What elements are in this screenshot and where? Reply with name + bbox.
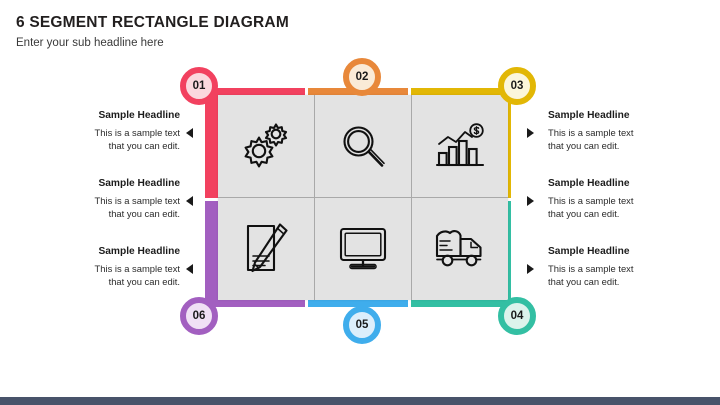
segment-number-04-label: 04 (511, 310, 524, 322)
grid-cell-06[interactable] (218, 198, 314, 300)
text-block-left-2: Sample Headline This is a sample text th… (48, 178, 180, 221)
triangle-marker-left-3 (186, 264, 193, 274)
grid-cell-01[interactable] (218, 95, 314, 197)
headline-right-2: Sample Headline (548, 178, 680, 191)
text-block-right-2: Sample Headline This is a sample text th… (548, 178, 680, 221)
headline-left-2: Sample Headline (48, 178, 180, 191)
monitor-icon (337, 226, 389, 272)
text-block-left-3: Sample Headline This is a sample text th… (48, 246, 180, 289)
triangle-marker-right-1 (527, 128, 534, 138)
body-left-2-line1: This is a sample text (48, 194, 180, 208)
border-segment-01-left (205, 88, 219, 198)
segment-number-02-label: 02 (356, 71, 369, 83)
footer-bar (0, 397, 720, 405)
headline-right-1: Sample Headline (548, 110, 680, 123)
body-right-3: This is a sample text that you can edit. (548, 262, 680, 289)
text-block-left-1: Sample Headline This is a sample text th… (48, 110, 180, 153)
segment-number-03-label: 03 (511, 80, 524, 92)
slide-canvas: 6 SEGMENT RECTANGLE DIAGRAM Enter your s… (0, 0, 720, 405)
body-left-3-line1: This is a sample text (48, 262, 180, 276)
triangle-marker-left-1 (186, 128, 193, 138)
text-block-right-3: Sample Headline This is a sample text th… (548, 246, 680, 289)
body-left-3-line2: that you can edit. (48, 275, 180, 289)
segment-number-05-label: 05 (356, 319, 369, 331)
page-title: 6 SEGMENT RECTANGLE DIAGRAM (16, 14, 289, 32)
segment-grid (218, 95, 508, 300)
segment-number-03[interactable]: 03 (498, 67, 536, 105)
segment-number-04[interactable]: 04 (498, 297, 536, 335)
magnifier-icon (339, 122, 387, 170)
grid-cell-05[interactable] (315, 198, 411, 300)
page-subtitle: Enter your sub headline here (16, 37, 164, 49)
body-right-1-line2: that you can edit. (548, 139, 680, 153)
body-right-1-line1: This is a sample text (548, 126, 680, 140)
triangle-marker-right-3 (527, 264, 534, 274)
segment-number-06-label: 06 (193, 310, 206, 322)
body-right-1: This is a sample text that you can edit. (548, 126, 680, 153)
headline-left-1: Sample Headline (48, 110, 180, 123)
body-right-2-line1: This is a sample text (548, 194, 680, 208)
body-left-3: This is a sample text that you can edit. (48, 262, 180, 289)
body-right-3-line1: This is a sample text (548, 262, 680, 276)
delivery-truck-icon (433, 228, 487, 270)
body-right-2: This is a sample text that you can edit. (548, 194, 680, 221)
segment-number-01-label: 01 (193, 80, 206, 92)
segment-number-05[interactable]: 05 (343, 306, 381, 344)
segment-number-02[interactable]: 02 (343, 58, 381, 96)
grid-cell-02[interactable] (315, 95, 411, 197)
document-pencil-icon (241, 223, 291, 275)
triangle-marker-right-2 (527, 196, 534, 206)
gears-icon (239, 123, 293, 169)
body-left-1-line1: This is a sample text (48, 126, 180, 140)
triangle-marker-left-2 (186, 196, 193, 206)
body-left-2-line2: that you can edit. (48, 207, 180, 221)
segment-number-01[interactable]: 01 (180, 67, 218, 105)
grid-cell-03[interactable] (412, 95, 508, 197)
bar-chart-dollar-icon (434, 122, 486, 170)
body-right-3-line2: that you can edit. (548, 275, 680, 289)
headline-left-3: Sample Headline (48, 246, 180, 259)
segment-number-06[interactable]: 06 (180, 297, 218, 335)
body-left-1: This is a sample text that you can edit. (48, 126, 180, 153)
headline-right-3: Sample Headline (548, 246, 680, 259)
border-segment-06-left (205, 201, 219, 307)
text-block-right-1: Sample Headline This is a sample text th… (548, 110, 680, 153)
body-left-2: This is a sample text that you can edit. (48, 194, 180, 221)
grid-cell-04[interactable] (412, 198, 508, 300)
body-right-2-line2: that you can edit. (548, 207, 680, 221)
body-left-1-line2: that you can edit. (48, 139, 180, 153)
